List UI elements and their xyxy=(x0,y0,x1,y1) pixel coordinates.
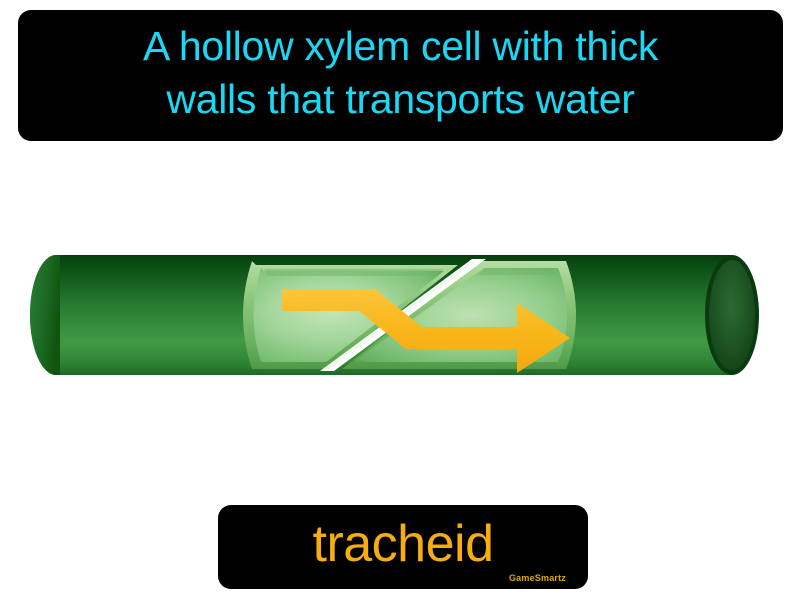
tracheid-cell-diagram xyxy=(20,245,780,385)
term-label-box: tracheid GameSmartz xyxy=(218,505,588,589)
definition-text: A hollow xylem cell with thick walls tha… xyxy=(143,20,658,125)
watermark-text: GameSmartz xyxy=(509,573,566,583)
open-tube-end xyxy=(705,255,759,375)
tube-left-cap xyxy=(30,255,60,375)
illustration-area xyxy=(0,150,800,490)
definition-banner: A hollow xylem cell with thick walls tha… xyxy=(18,10,783,141)
